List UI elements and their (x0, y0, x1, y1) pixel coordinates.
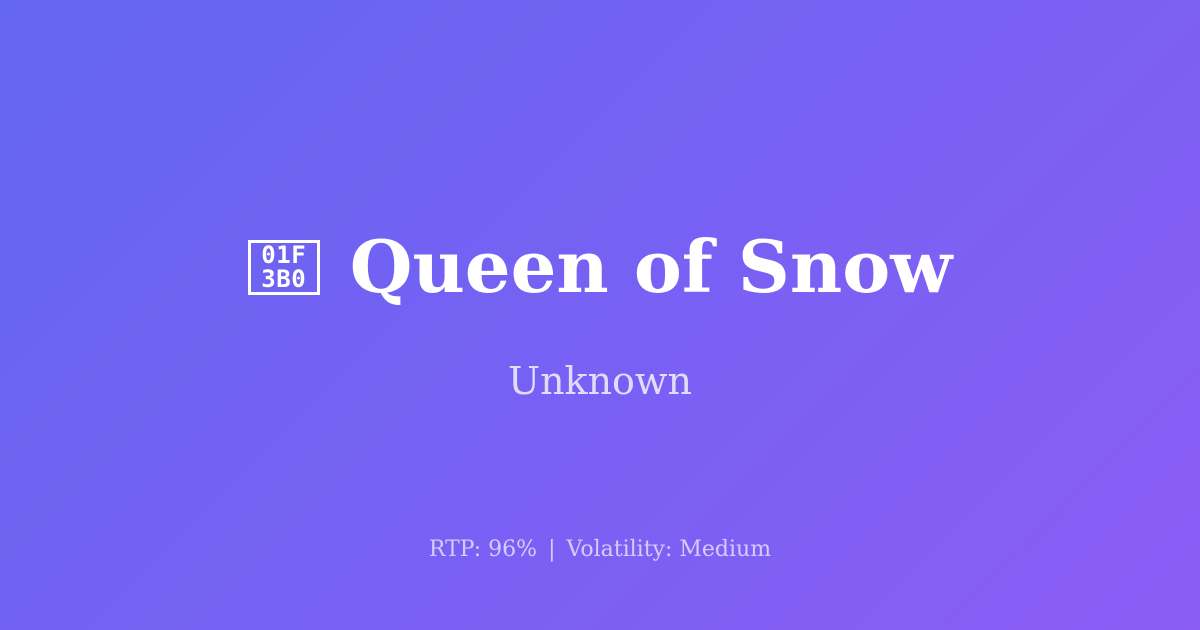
provider-label: Unknown (508, 359, 692, 403)
meta-separator: | (544, 537, 559, 562)
title-row: 01F 3B0 Queen of Snow (248, 227, 953, 306)
game-og-card: 01F 3B0 Queen of Snow Unknown RTP: 96% |… (0, 0, 1200, 630)
slot-machine-icon-codepoint-bottom: 3B0 (261, 267, 306, 291)
slot-machine-icon-codepoint-top: 01F (261, 243, 306, 267)
slot-machine-icon: 01F 3B0 (248, 240, 320, 295)
rtp-value: RTP: 96% (429, 537, 537, 562)
game-meta-line: RTP: 96% | Volatility: Medium (0, 537, 1200, 562)
volatility-value: Volatility: Medium (567, 537, 772, 562)
page-title: Queen of Snow (350, 227, 953, 306)
